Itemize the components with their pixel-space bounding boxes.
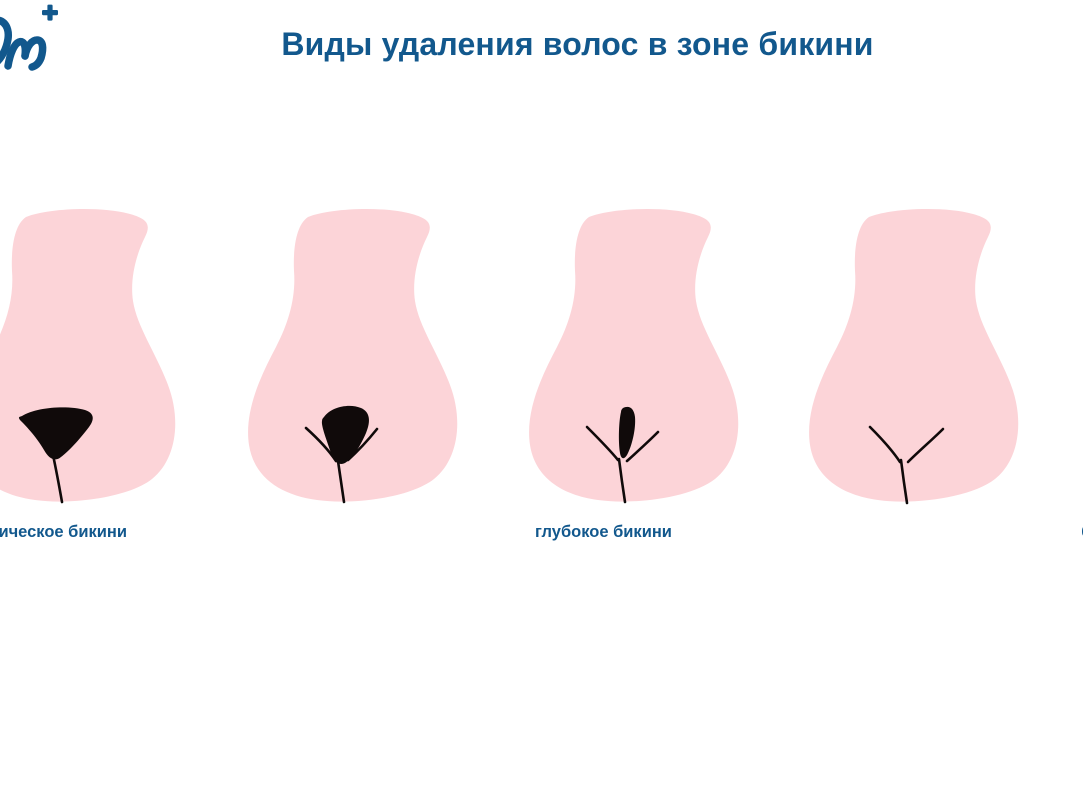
torso-illustration-classic [0,205,223,515]
figure-brazilian: бразильское бикини [515,205,786,555]
page-title: Виды удаления волос в зоне бикини [0,24,1083,64]
torso-illustration-deep [234,205,505,515]
figure-hollywood: голливудское бикини [795,205,1066,555]
torso-silhouette [248,209,457,502]
torso-illustration-brazilian [515,205,786,515]
torso-silhouette [529,209,738,502]
figure-classic: классическое бикини [0,205,223,555]
torso-silhouette [0,209,175,502]
plus-icon [42,5,58,21]
figure-label-classic: классическое бикини [0,521,175,543]
figures-row: классическое бикини глубокое бикини браз… [0,205,1083,555]
torso-illustration-hollywood [795,205,1066,515]
figure-deep: глубокое бикини [234,205,505,555]
